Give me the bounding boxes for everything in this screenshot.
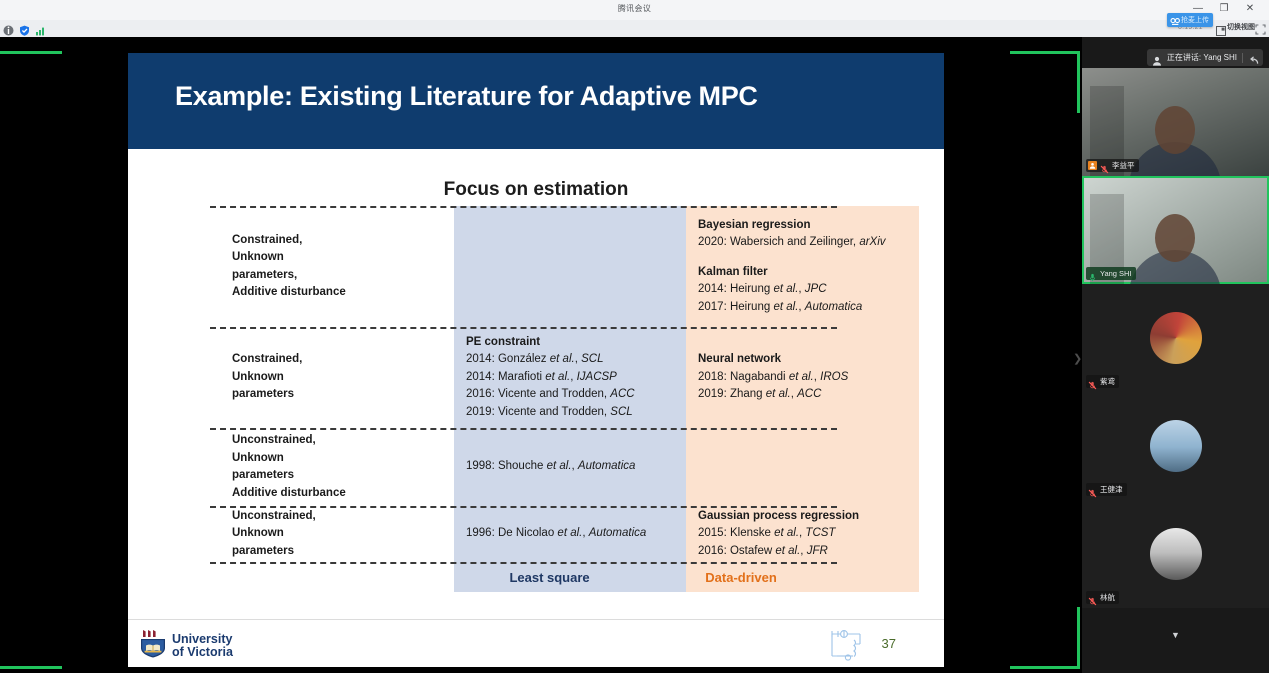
share-frame-bot-right-h xyxy=(1010,666,1080,669)
reference-entry: 2014: Heirung et al., JPC xyxy=(698,281,833,299)
uvic-line1: University xyxy=(172,632,232,646)
category-line: parameters, xyxy=(232,267,454,285)
participant-name: Yang SHI xyxy=(1100,269,1132,278)
row-category: Unconstrained,UnknownparametersAdditive … xyxy=(210,432,454,502)
row-category: Unconstrained,Unknownparameters xyxy=(210,508,454,561)
row-category: Constrained,Unknownparameters,Additive d… xyxy=(210,232,454,302)
participant-namebar: 李益平 xyxy=(1086,159,1139,172)
method-heading: PE constraint xyxy=(466,334,680,352)
slide-subtitle: Focus on estimation xyxy=(128,179,944,201)
mic-muted-icon xyxy=(1100,161,1109,170)
fullscreen-icon[interactable] xyxy=(1255,22,1265,32)
uvic-line2: of Victoria xyxy=(172,645,233,659)
category-line: parameters xyxy=(232,467,454,485)
reference-entry: 1998: Shouche et al., Automatica xyxy=(466,458,680,476)
row-divider xyxy=(210,327,837,329)
reference-entry: 2016: Vicente and Trodden, ACC xyxy=(466,386,680,404)
participant-namebar: Yang SHI xyxy=(1086,267,1136,280)
reference-entry: 2016: Ostafew et al., JFR xyxy=(698,543,833,561)
category-line: parameters xyxy=(232,386,454,404)
reference-entry: 2015: Klenske et al., TCST xyxy=(698,525,833,543)
share-frame-top-right-h xyxy=(1010,51,1080,54)
category-line: Unconstrained, xyxy=(232,508,454,526)
chevron-right-icon[interactable]: ❯ xyxy=(1073,352,1082,365)
row-divider xyxy=(210,506,837,508)
data-driven-footer: Data-driven xyxy=(645,570,837,585)
active-speaker-label: 正在讲话: Yang SHI xyxy=(1167,52,1237,63)
uvic-crest-icon xyxy=(140,628,166,663)
least-square-cell: PE constraint2014: González et al., SCL2… xyxy=(454,334,686,422)
slide-header: Example: Existing Literature for Adaptiv… xyxy=(128,53,944,149)
table-row: Constrained,Unknownparameters,Additive d… xyxy=(210,206,837,327)
participant-namebar: 王健津 xyxy=(1086,483,1127,496)
mic-muted-icon xyxy=(1088,377,1097,386)
uvic-logo-text: University of Victoria xyxy=(172,633,233,659)
participant-namebar: 林航 xyxy=(1086,591,1119,604)
info-icon[interactable] xyxy=(3,23,14,34)
method-heading: Gaussian process regression xyxy=(698,508,833,526)
restore-button[interactable]: ❐ xyxy=(1211,1,1237,17)
chevron-down-icon[interactable]: ▼ xyxy=(1171,631,1180,640)
avatar xyxy=(1150,312,1202,364)
category-line: parameters xyxy=(232,543,454,561)
app-title: 腾讯会议 xyxy=(0,3,1269,14)
reference-entry: 1996: De Nicolao et al., Automatica xyxy=(466,525,680,543)
share-frame-bottom-left xyxy=(0,666,62,669)
mic-on-icon xyxy=(1088,269,1097,278)
participant-name: 林航 xyxy=(1100,592,1115,603)
slide-page-number: 37 xyxy=(882,636,896,651)
row-divider xyxy=(210,428,837,430)
reference-entry: 2014: Marafioti et al., IJACSP xyxy=(466,369,680,387)
category-line: Unknown xyxy=(232,369,454,387)
signal-bars-icon[interactable] xyxy=(35,23,46,34)
close-button[interactable]: ✕ xyxy=(1237,1,1263,17)
reply-arrow-icon[interactable] xyxy=(1248,53,1258,63)
share-frame-top-left xyxy=(0,51,62,54)
category-line: Additive disturbance xyxy=(232,284,454,302)
table-row: Unconstrained,Unknownparameters1996: De … xyxy=(210,506,837,562)
reference-entry: 2017: Heirung et al., Automatica xyxy=(698,299,833,317)
view-switch-label: 切换视图 xyxy=(1227,22,1255,32)
screen-root: 腾讯会议 — ❐ ✕ 抢麦上传 0:19:21 切换视图 xyxy=(0,0,1269,673)
tray-icons xyxy=(3,20,46,37)
participant-tile[interactable]: 李益平 xyxy=(1082,68,1269,176)
person-speaking-icon xyxy=(1152,53,1162,63)
data-driven-cell: Gaussian process regression2015: Klenske… xyxy=(686,508,837,561)
share-upload-badge[interactable]: 抢麦上传 xyxy=(1167,13,1213,27)
uvic-logo: University of Victoria xyxy=(140,628,233,663)
reference-entry: 2019: Zhang et al., ACC xyxy=(698,386,833,404)
category-line: Unknown xyxy=(232,450,454,468)
participant-tile[interactable]: 林航 xyxy=(1082,500,1269,608)
table-row: Unconstrained,UnknownparametersAdditive … xyxy=(210,428,837,506)
mic-muted-icon xyxy=(1088,593,1097,602)
participant-tile[interactable]: 王健津 xyxy=(1082,392,1269,500)
method-heading: Neural network xyxy=(698,351,833,369)
window-titlebar: 腾讯会议 — ❐ ✕ xyxy=(0,0,1269,20)
participant-rail: 正在讲话: Yang SHI ▲ ▼ 李益平Yang SHI紫鸢王健津林航 xyxy=(1082,37,1269,673)
least-square-footer: Least square xyxy=(454,570,645,585)
data-driven-cell: Neural network2018: Nagabandi et al., IR… xyxy=(686,351,837,404)
participant-name: 紫鸢 xyxy=(1100,376,1115,387)
method-heading: Bayesian regression xyxy=(698,217,833,235)
meeting-toolbar-strip xyxy=(0,20,1269,37)
category-line: Additive disturbance xyxy=(232,485,454,503)
category-line: Constrained, xyxy=(232,351,454,369)
reference-entry: 2019: Vicente and Trodden, SCL xyxy=(466,404,680,422)
spacer xyxy=(698,252,833,264)
table-row: Constrained,UnknownparametersPE constrai… xyxy=(210,327,837,428)
active-speaker-pill: 正在讲话: Yang SHI xyxy=(1147,49,1263,66)
least-square-cell: 1996: De Nicolao et al., Automatica xyxy=(454,525,686,543)
shield-icon[interactable] xyxy=(19,23,30,34)
participant-tile[interactable]: 紫鸢 xyxy=(1082,284,1269,392)
participant-namebar: 紫鸢 xyxy=(1086,375,1119,388)
reference-entry: 2014: González et al., SCL xyxy=(466,351,680,369)
slide-footer: University of Victoria 37 xyxy=(128,619,944,667)
participant-name: 李益平 xyxy=(1112,160,1135,171)
layout-grid-icon xyxy=(1216,23,1225,32)
share-frame-top-right-v xyxy=(1077,51,1080,113)
reference-entry: 2018: Nagabandi et al., IROS xyxy=(698,369,833,387)
table-column-footers: Least squareData-driven xyxy=(210,562,837,592)
row-category: Constrained,Unknownparameters xyxy=(210,351,454,404)
category-line: Constrained, xyxy=(232,232,454,250)
participant-tile[interactable]: Yang SHI xyxy=(1082,176,1269,284)
avatar xyxy=(1150,528,1202,580)
literature-table: Constrained,Unknownparameters,Additive d… xyxy=(210,206,837,592)
circuit-diagram-icon xyxy=(824,626,868,669)
share-upload-label: 抢麦上传 xyxy=(1181,15,1209,25)
category-line: Unknown xyxy=(232,525,454,543)
host-badge-icon xyxy=(1088,161,1097,170)
share-frame-bot-right-v xyxy=(1077,607,1080,669)
slide-title: Example: Existing Literature for Adaptiv… xyxy=(175,81,758,112)
reference-entry: 2020: Wabersich and Zeilinger, arXiv xyxy=(698,234,833,252)
data-driven-cell: Bayesian regression2020: Wabersich and Z… xyxy=(686,217,837,317)
avatar xyxy=(1150,420,1202,472)
view-switch-button[interactable]: 切换视图 xyxy=(1216,22,1255,32)
mic-muted-icon xyxy=(1088,485,1097,494)
category-line: Unknown xyxy=(232,249,454,267)
least-square-cell: 1998: Shouche et al., Automatica xyxy=(454,458,686,476)
row-divider xyxy=(210,562,837,564)
category-line: Unconstrained, xyxy=(232,432,454,450)
shared-slide: Example: Existing Literature for Adaptiv… xyxy=(128,53,944,667)
share-cloud-icon xyxy=(1169,15,1179,25)
method-heading: Kalman filter xyxy=(698,264,833,282)
row-divider xyxy=(210,206,837,208)
participant-name: 王健津 xyxy=(1100,484,1123,495)
divider xyxy=(1242,53,1243,63)
